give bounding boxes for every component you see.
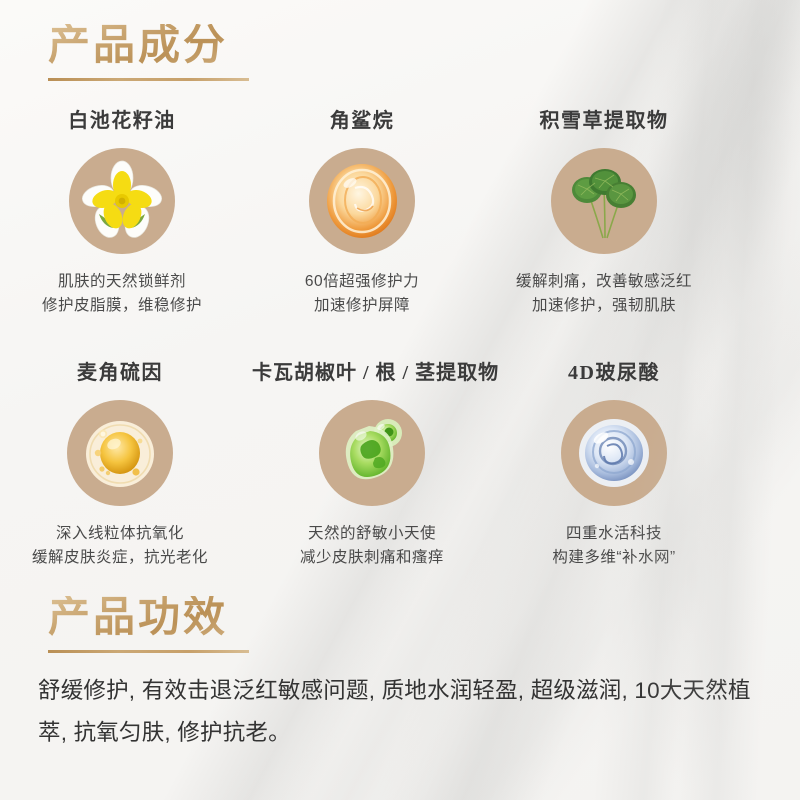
ingredient-description: 四重水活科技 构建多维“补水网” <box>494 522 734 570</box>
ingredient-description-line-1: 60倍超强修护力 <box>242 270 482 294</box>
ingredient-description-line-2: 缓解皮肤炎症，抗光老化 <box>0 546 240 570</box>
ingredient-title: 卡瓦胡椒叶 / 根 / 茎提取物 <box>252 360 492 386</box>
ingredient-description-line-1: 四重水活科技 <box>494 522 734 546</box>
section-heading-underline <box>48 650 249 653</box>
ingredient-description: 深入线粒体抗氧化 缓解皮肤炎症，抗光老化 <box>0 522 240 570</box>
green-gel-blob-icon <box>319 400 425 506</box>
ingredient-title: 积雪草提取物 <box>484 108 724 134</box>
section-heading-ingredients-text: 产品成分 <box>48 24 249 69</box>
ingredient-description: 60倍超强修护力 加速修护屏障 <box>242 270 482 318</box>
ingredient-description: 天然的舒敏小天使 减少皮肤刺痛和瘙痒 <box>252 522 492 570</box>
ingredient-image-circle <box>319 400 425 506</box>
section-heading-efficacy: 产品功效 <box>48 596 249 653</box>
centella-leaves-icon <box>551 148 657 254</box>
ingredient-card-squalane[interactable]: 角鲨烷 <box>242 108 482 318</box>
ingredient-image-circle <box>67 400 173 506</box>
product-ingredient-infographic: 产品成分 白池花籽油 <box>0 0 800 800</box>
meadowfoam-flower-icon <box>69 148 175 254</box>
ingredient-card-centella[interactable]: 积雪草提取物 <box>484 108 724 318</box>
ingredient-description-line-1: 深入线粒体抗氧化 <box>0 522 240 546</box>
section-heading-ingredients: 产品成分 <box>48 24 249 81</box>
ingredient-description-line-2: 加速修护，强韧肌肤 <box>484 294 724 318</box>
section-heading-underline <box>48 78 249 81</box>
efficacy-body-text: 舒缓修护, 有效击退泛红敏感问题, 质地水润轻盈, 超级滋润, 10大天然植萃,… <box>38 670 768 753</box>
ingredient-description-line-2: 减少皮肤刺痛和瘙痒 <box>252 546 492 570</box>
ingredient-description-line-2: 加速修护屏障 <box>242 294 482 318</box>
ingredient-description-line-1: 天然的舒敏小天使 <box>252 522 492 546</box>
ingredient-image-circle <box>551 148 657 254</box>
ingredient-title: 角鲨烷 <box>242 108 482 134</box>
ingredient-title: 麦角硫因 <box>0 360 240 386</box>
ingredient-title: 4D玻尿酸 <box>494 360 734 386</box>
ingredient-card-hyaluronic-acid[interactable]: 4D玻尿酸 <box>494 360 734 570</box>
amber-oil-droplet-icon <box>309 148 415 254</box>
blue-water-droplet-icon <box>561 400 667 506</box>
ingredient-description-line-1: 肌肤的天然锁鲜剂 <box>2 270 242 294</box>
ingredient-image-circle <box>69 148 175 254</box>
ingredient-description-line-1: 缓解刺痛，改善敏感泛红 <box>484 270 724 294</box>
ingredient-image-circle <box>561 400 667 506</box>
ingredient-title: 白池花籽油 <box>2 108 242 134</box>
ingredient-description-line-2: 构建多维“补水网” <box>494 546 734 570</box>
golden-serum-drop-icon <box>67 400 173 506</box>
ingredient-description-line-2: 修护皮脂膜，维稳修护 <box>2 294 242 318</box>
ingredient-card-meadowfoam[interactable]: 白池花籽油 <box>2 108 242 318</box>
section-heading-efficacy-text: 产品功效 <box>48 596 249 641</box>
ingredient-description: 缓解刺痛，改善敏感泛红 加速修护，强韧肌肤 <box>484 270 724 318</box>
ingredient-card-kava[interactable]: 卡瓦胡椒叶 / 根 / 茎提取物 <box>252 360 492 570</box>
ingredient-description: 肌肤的天然锁鲜剂 修护皮脂膜，维稳修护 <box>2 270 242 318</box>
ingredient-image-circle <box>309 148 415 254</box>
ingredient-card-ergothioneine[interactable]: 麦角硫因 <box>0 360 240 570</box>
